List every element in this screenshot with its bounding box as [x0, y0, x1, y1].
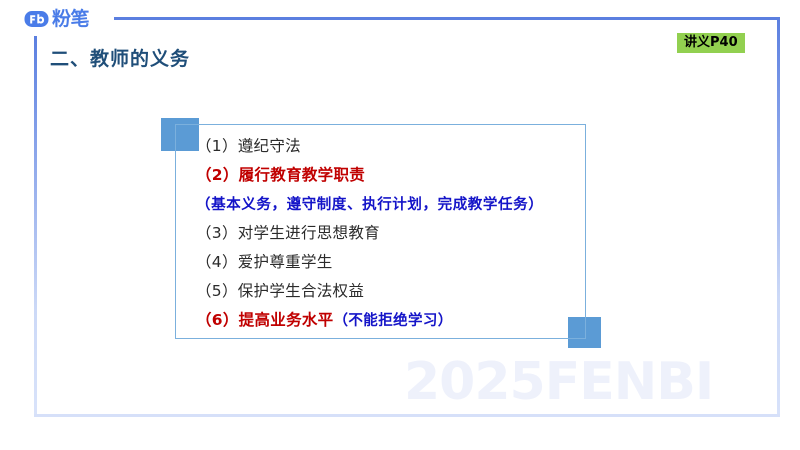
list-item-text: （3）对学生进行思想教育 [196, 224, 380, 242]
list-item-text: （5）保护学生合法权益 [196, 282, 364, 300]
frame-top-border [114, 17, 780, 20]
list-item: （5）保护学生合法权益 [196, 277, 586, 306]
fb-logo-icon [24, 10, 49, 28]
frame-right-border [777, 17, 780, 417]
obligation-list: （1）遵纪守法 （2）履行教育教学职责 （基本义务，遵守制度、执行计划，完成教学… [196, 132, 586, 335]
list-item: （2）履行教育教学职责 [196, 161, 586, 190]
slide-canvas: 粉笔 二、教师的义务 讲义P40 2025FENBI （1）遵纪守法 （2）履行… [0, 0, 800, 450]
frame-bottom-border [34, 414, 780, 417]
brand-logo-text: 粉笔 [52, 10, 89, 29]
list-item: （3）对学生进行思想教育 [196, 219, 586, 248]
brand-logo: 粉笔 [24, 6, 89, 32]
page-title: 二、教师的义务 [50, 42, 190, 72]
list-item-text: （6）提高业务水平 [196, 311, 334, 329]
page-title-text: 二、教师的义务 [50, 44, 190, 71]
handout-page-badge: 讲义P40 [677, 33, 745, 53]
list-item: （1）遵纪守法 [196, 132, 586, 161]
watermark-text: 2025FENBI [404, 356, 713, 408]
list-item-text: （1）遵纪守法 [196, 137, 301, 155]
list-item-text: （4）爱护尊重学生 [196, 253, 333, 271]
list-item: （6）提高业务水平（不能拒绝学习） [196, 306, 586, 335]
list-item-inline-note: （不能拒绝学习） [334, 312, 453, 329]
list-item: （4）爱护尊重学生 [196, 248, 586, 277]
list-item-note-text: （基本义务，遵守制度、执行计划，完成教学任务） [196, 196, 543, 213]
list-item-text: （2）履行教育教学职责 [196, 166, 365, 184]
list-item-note: （基本义务，遵守制度、执行计划，完成教学任务） [196, 190, 586, 219]
frame-left-border [34, 36, 37, 417]
